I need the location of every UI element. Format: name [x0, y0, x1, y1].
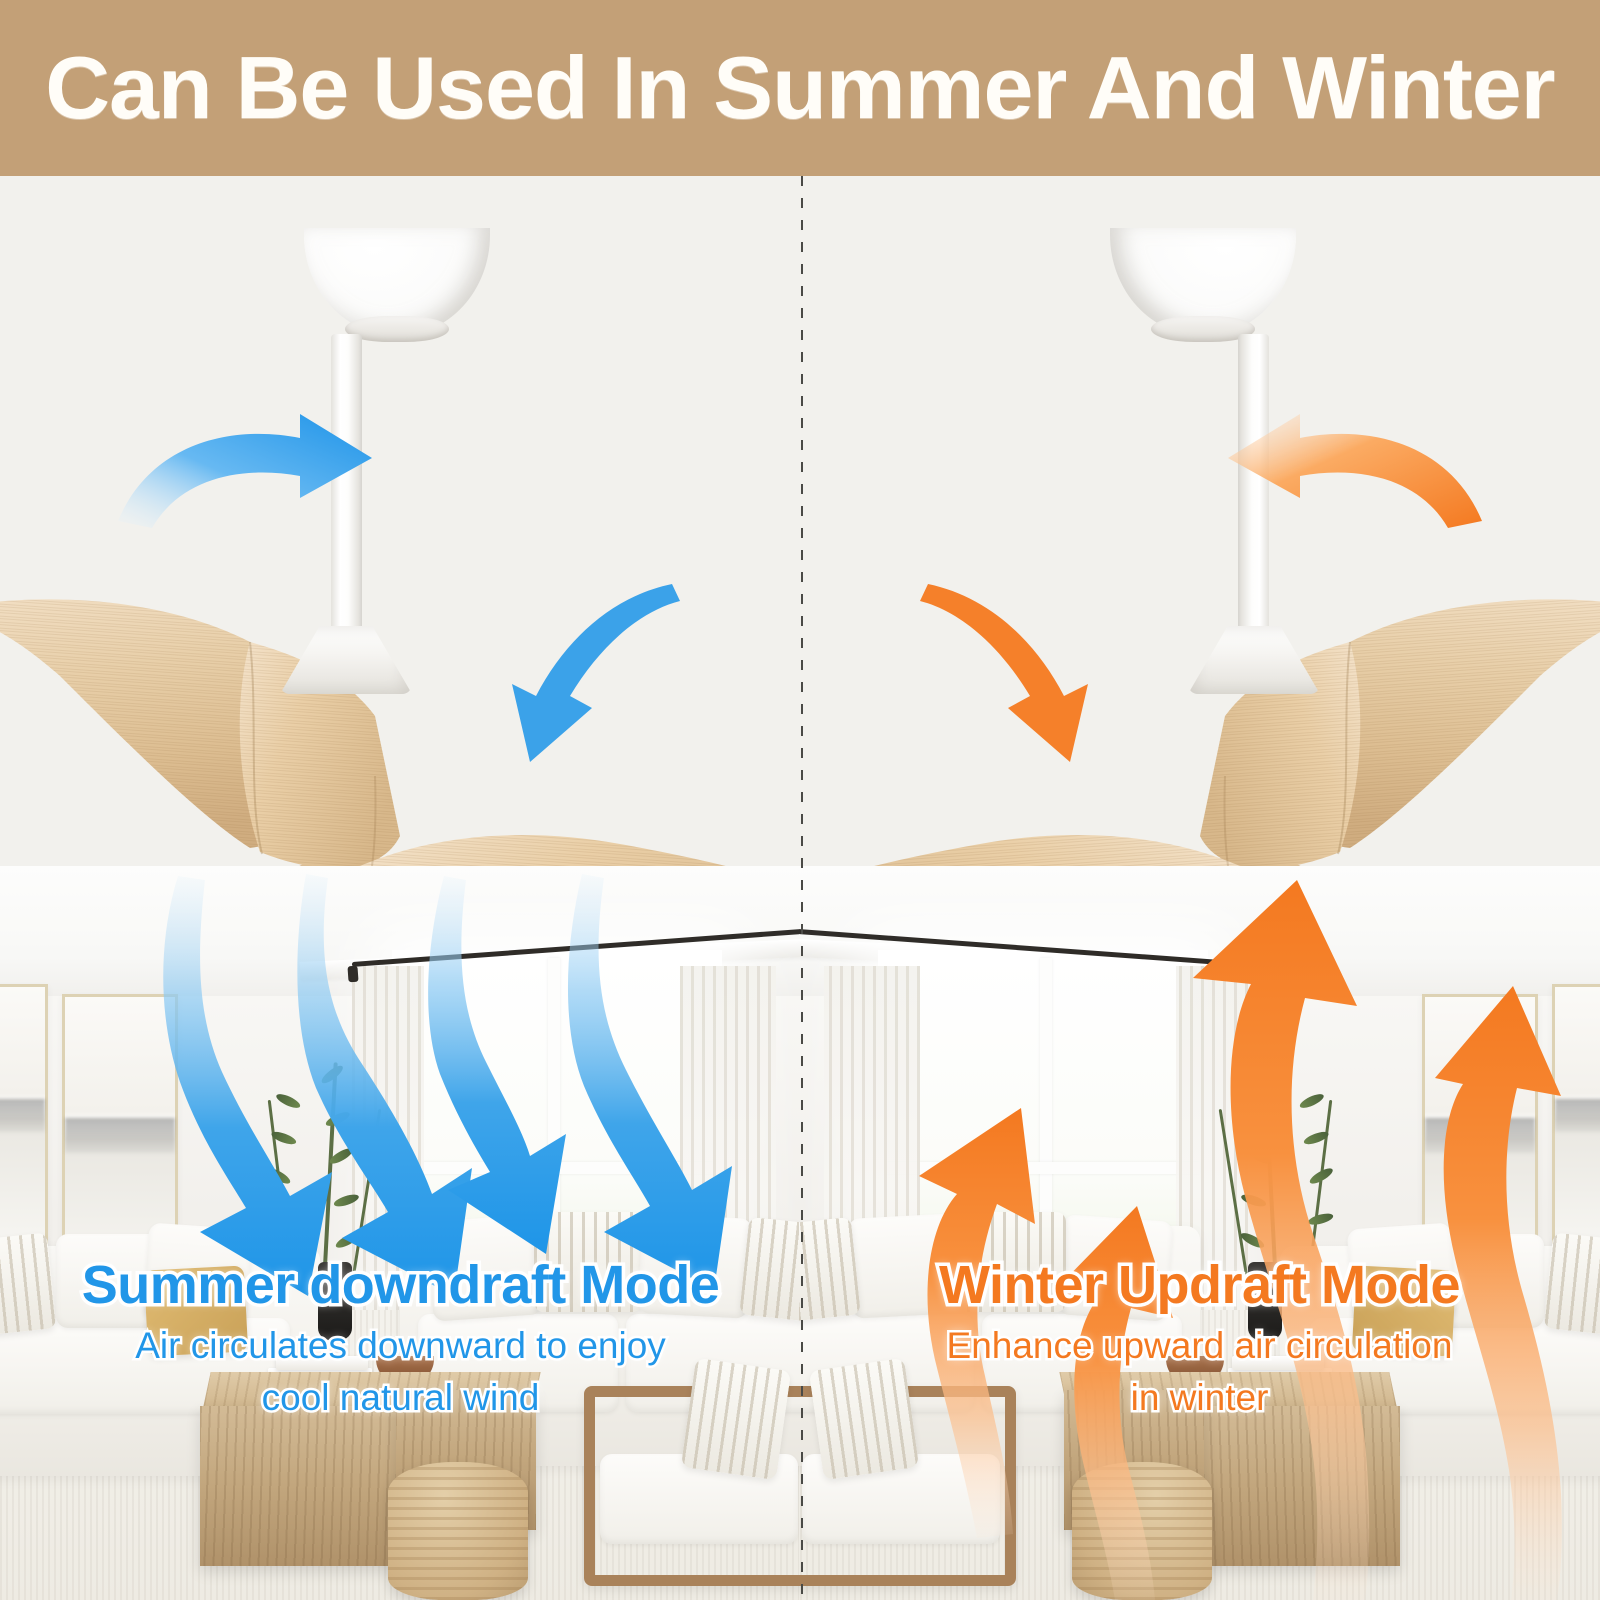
coffee-table: [200, 1406, 400, 1566]
mode-desc-winter-line1: Enhance upward air circulation: [799, 1324, 1600, 1368]
curtain-rod-finial: [347, 966, 358, 983]
fan-illustration-summer: [0, 176, 801, 921]
mode-desc-summer-line1: Air circulates downward to enjoy: [0, 1324, 801, 1368]
ottoman: [1072, 1462, 1212, 1600]
window-mullion: [886, 1162, 1200, 1174]
ottoman: [388, 1462, 528, 1600]
comparison-stage: Summer downdraft Mode Air circulates dow…: [0, 176, 1600, 1600]
page-title: Can Be Used In Summer And Winter: [45, 37, 1554, 139]
header-banner: Can Be Used In Summer And Winter: [0, 0, 1600, 176]
mode-title-winter: Winter Updraft Mode: [799, 1254, 1600, 1316]
window-mullion: [400, 1162, 714, 1174]
caption-winter: Winter Updraft Mode Enhance upward air c…: [799, 1254, 1600, 1419]
framed-art: [1552, 984, 1600, 1244]
mode-title-summer: Summer downdraft Mode: [0, 1254, 801, 1316]
downrod: [331, 334, 362, 634]
fan-illustration-winter: [799, 176, 1600, 921]
room-scene-winter: [799, 866, 1600, 1600]
curtain-rod-finial: [1241, 966, 1252, 983]
room-scene-summer: [0, 866, 801, 1600]
mode-desc-winter-line2: in winter: [799, 1376, 1600, 1420]
panel-summer: Summer downdraft Mode Air circulates dow…: [0, 176, 801, 1600]
coffee-table: [1200, 1406, 1400, 1566]
panel-divider: [801, 176, 803, 1600]
framed-art: [0, 984, 48, 1244]
caption-summer: Summer downdraft Mode Air circulates dow…: [0, 1254, 801, 1419]
mode-desc-summer-line2: cool natural wind: [0, 1376, 801, 1420]
panel-winter: Winter Updraft Mode Enhance upward air c…: [799, 176, 1600, 1600]
downrod: [1238, 334, 1269, 634]
